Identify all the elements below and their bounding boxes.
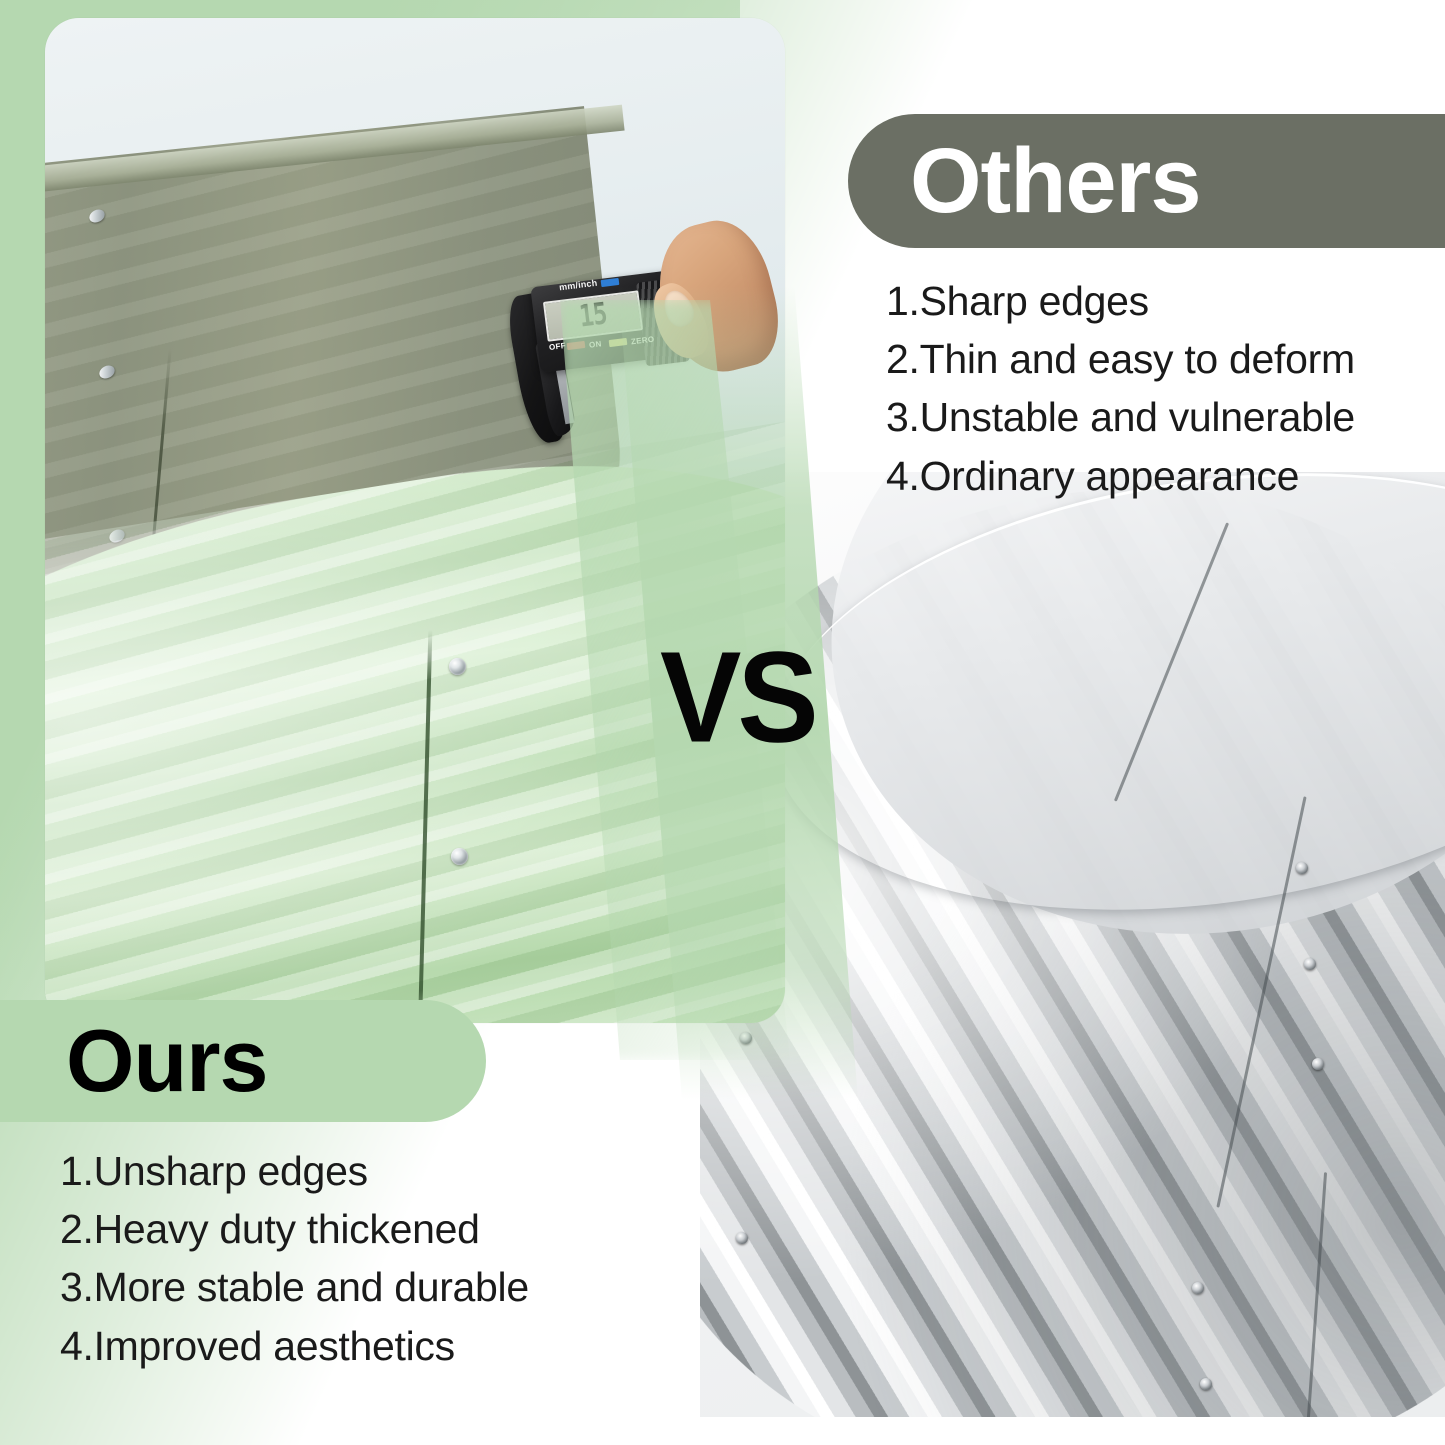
list-item: 3.Unstable and vulnerable	[886, 388, 1426, 446]
list-item: 3.More stable and durable	[60, 1258, 620, 1316]
vs-label: VS	[660, 632, 815, 761]
rivet	[736, 1232, 748, 1244]
ours-feature-list: 1.Unsharp edges 2.Heavy duty thickened 3…	[60, 1142, 620, 1375]
others-title-banner: Others	[848, 114, 1445, 248]
rivet	[1304, 958, 1316, 970]
rivet	[1192, 1282, 1204, 1294]
rivet	[1200, 1378, 1212, 1390]
photo-others-silver-bed	[700, 472, 1445, 1417]
rivet	[1296, 862, 1308, 874]
rivet	[1312, 1058, 1324, 1070]
ours-title-banner: Ours	[0, 1000, 486, 1122]
list-item: 2.Thin and easy to deform	[886, 330, 1426, 388]
list-item: 4.Ordinary appearance	[886, 447, 1426, 505]
others-feature-list: 1.Sharp edges 2.Thin and easy to deform …	[886, 272, 1426, 505]
others-title: Others	[910, 135, 1201, 227]
caliper-reading: 15	[578, 299, 609, 332]
list-item: 1.Sharp edges	[886, 272, 1426, 330]
list-item: 4.Improved aesthetics	[60, 1317, 620, 1375]
ours-title: Ours	[66, 1017, 267, 1105]
bolt	[449, 658, 466, 675]
digital-caliper: mm/inch 15 OFF ON ZERO	[515, 266, 745, 451]
caliper-on-label: ON	[588, 339, 602, 349]
list-item: 1.Unsharp edges	[60, 1142, 620, 1200]
list-item: 2.Heavy duty thickened	[60, 1200, 620, 1258]
bolt	[451, 848, 468, 865]
photo-ours-green-bed: mm/inch 15 OFF ON ZERO	[45, 18, 785, 1023]
infographic-canvas: mm/inch 15 OFF ON ZERO Others 1.Sharp ed…	[0, 0, 1445, 1445]
rivet	[740, 1032, 752, 1044]
